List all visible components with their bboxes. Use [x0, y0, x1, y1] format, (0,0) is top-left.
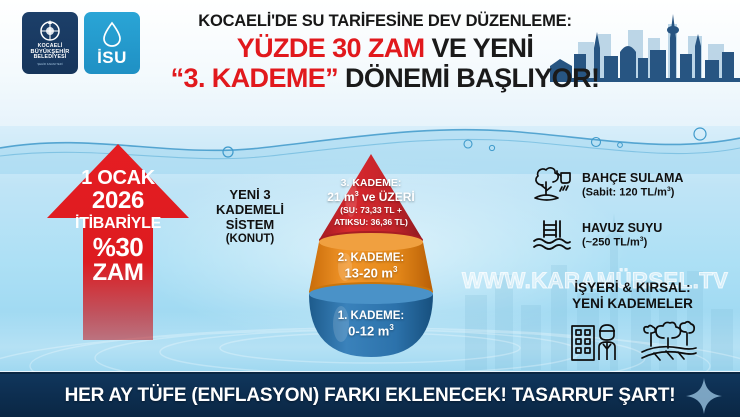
tree-watering-icon — [530, 165, 574, 205]
headline-line1: KOCAELİ'DE SU TARİFESİNE DEV DÜZENLEME: — [150, 12, 620, 31]
municipality-crest-icon — [37, 20, 63, 44]
arrow-line2: 2026 — [45, 189, 191, 213]
info-item-garden-irrigation: BAHÇE SULAMA (Sabit: 120 TL/m3) — [530, 165, 735, 205]
pool-water-text: HAVUZ SUYU (~250 TL/m3) — [582, 221, 662, 250]
tier-1-label: 1. KADEME: 0-12 m3 — [295, 310, 447, 339]
garden-irrigation-detail: (Sabit: 120 TL/m3) — [582, 186, 683, 200]
building-worker-icon — [568, 318, 626, 362]
water-drop-icon — [101, 21, 123, 48]
headline: KOCAELİ'DE SU TARİFESİNE DEV DÜZENLEME: … — [150, 12, 620, 93]
headline-line3-red: “3. KADEME” — [171, 63, 338, 93]
business-rural-block: İŞYERİ & KIRSAL: YENİ KADEMELER — [525, 280, 740, 362]
kocaeli-municipality-logo: KOCAELİ BÜYÜKŞEHİR BELEDİYESİ ŞEHİR KARA… — [22, 12, 78, 74]
system-line1: YENİ 3 — [196, 188, 304, 203]
right-info-column: BAHÇE SULAMA (Sabit: 120 TL/m3) HAVUZ SU… — [530, 165, 735, 265]
headline-line2-black: VE YENİ — [431, 33, 533, 63]
tier-2-label: 2. KADEME: 13-20 m3 — [295, 252, 447, 281]
info-item-pool-water: HAVUZ SUYU (~250 TL/m3) — [530, 215, 735, 255]
kbb-logo-line4: ŞEHİR KARAKTERİ — [37, 62, 62, 66]
garden-irrigation-title: BAHÇE SULAMA — [582, 171, 683, 186]
arrow-text: 1 OCAK 2026 İTİBARİYLE %30 ZAM — [45, 168, 191, 285]
headline-line3-black: DÖNEMİ BAŞLIYOR! — [345, 63, 599, 93]
system-line2: KADEMELİ — [196, 203, 304, 218]
arrow-line1: 1 OCAK — [45, 168, 191, 188]
business-rural-line2: YENİ KADEMELER — [525, 296, 740, 312]
price-increase-arrow: 1 OCAK 2026 İTİBARİYLE %30 ZAM — [45, 142, 191, 342]
tier-3-label: 3. KADEME: 21 m3 ve ÜZERİ (SU: 73,33 TL … — [295, 178, 447, 228]
isu-logo: İSU — [84, 12, 140, 74]
arrow-line5: ZAM — [45, 261, 191, 285]
kbb-logo-line3: BELEDİYESİ — [34, 55, 67, 60]
tier-2-range: 13-20 m3 — [295, 265, 447, 281]
bottom-banner: HER AY TÜFE (ENFLASYON) FARKI EKLENECEK!… — [0, 372, 740, 417]
tier-2-name: 2. KADEME: — [295, 252, 447, 265]
pool-water-title: HAVUZ SUYU — [582, 221, 662, 236]
tier-3-sub1: (SU: 73,33 TL + — [295, 206, 447, 216]
tier-1-range: 0-12 m3 — [295, 323, 447, 339]
headline-line2-red: YÜZDE 30 ZAM — [237, 33, 425, 63]
swimming-pool-icon — [530, 215, 574, 255]
banner-text: HER AY TÜFE (ENFLASYON) FARKI EKLENECEK!… — [65, 385, 676, 407]
headline-line2: YÜZDE 30 ZAM VE YENİ — [150, 33, 620, 63]
tier-3-sub2: ATIKSU: 36,36 TL) — [295, 218, 447, 228]
tier-1-name: 1. KADEME: — [295, 310, 447, 323]
system-line4: (KONUT) — [196, 233, 304, 246]
system-line3: SİSTEM — [196, 218, 304, 233]
headline-line3: “3. KADEME” DÖNEMİ BAŞLIYOR! — [150, 63, 620, 93]
farm-field-icon — [640, 318, 698, 362]
tier-3-name: 3. KADEME: — [295, 178, 447, 190]
business-rural-icons — [525, 318, 740, 362]
tiered-droplet-diagram: 3. KADEME: 21 m3 ve ÜZERİ (SU: 73,33 TL … — [295, 152, 447, 362]
arrow-line3: İTİBARİYLE — [45, 216, 191, 232]
tier-3-range: 21 m3 ve ÜZERİ — [295, 190, 447, 204]
pool-water-detail: (~250 TL/m3) — [582, 236, 662, 250]
arrow-line4: %30 — [45, 234, 191, 260]
new-tier-system-label: YENİ 3 KADEMELİ SİSTEM (KONUT) — [196, 188, 304, 247]
garden-irrigation-text: BAHÇE SULAMA (Sabit: 120 TL/m3) — [582, 171, 683, 200]
logo-row: KOCAELİ BÜYÜKŞEHİR BELEDİYESİ ŞEHİR KARA… — [22, 12, 140, 74]
business-rural-line1: İŞYERİ & KIRSAL: — [525, 280, 740, 296]
isu-logo-label: İSU — [97, 49, 127, 66]
sparkle-icon — [686, 378, 722, 414]
infographic-canvas: KOCAELİ BÜYÜKŞEHİR BELEDİYESİ ŞEHİR KARA… — [0, 0, 740, 417]
